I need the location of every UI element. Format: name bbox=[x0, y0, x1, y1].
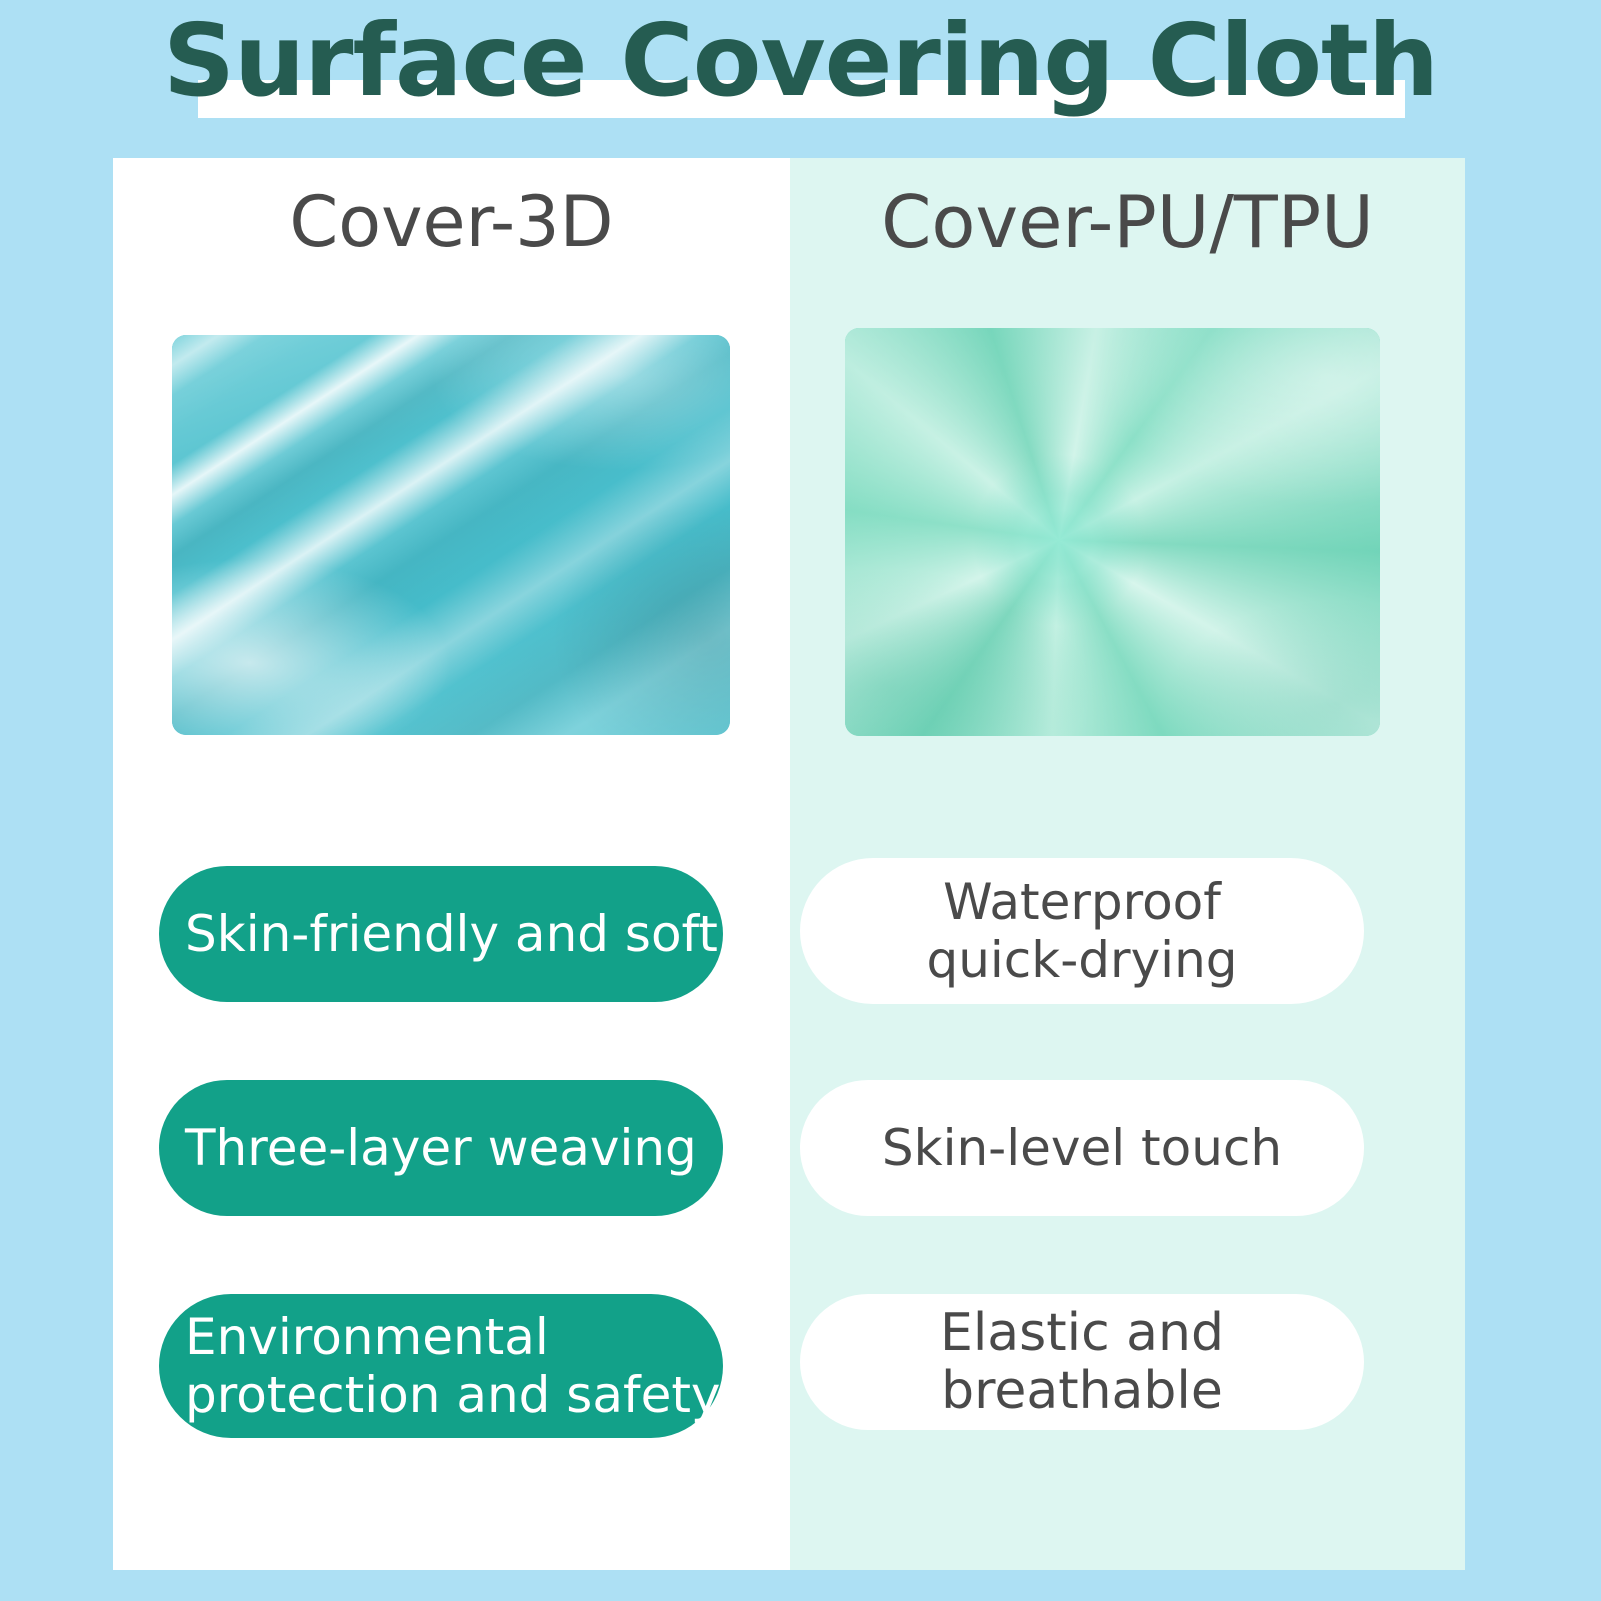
feature-pill[interactable]: Waterproof quick-drying bbox=[800, 858, 1364, 1004]
column-header-cover-pu-tpu: Cover-PU/TPU bbox=[790, 180, 1465, 264]
page-title: Surface Covering Cloth bbox=[0, 2, 1601, 120]
twist-shade-layer bbox=[845, 328, 1380, 736]
satin-glow-layer bbox=[172, 335, 730, 735]
column-cover-pu-tpu: Cover-PU/TPU Waterproof quick-drying Ski… bbox=[790, 158, 1465, 1570]
feature-pill[interactable]: Skin-friendly and soft bbox=[159, 866, 723, 1002]
satin-fabric-swatch bbox=[172, 335, 730, 735]
feature-pill-label: Elastic and breathable bbox=[800, 1304, 1364, 1420]
twisted-fabric-swatch bbox=[845, 328, 1380, 736]
comparison-card: Cover-3D Skin-friendly and soft Three-la… bbox=[113, 158, 1465, 1570]
feature-pill[interactable]: Environmental protection and safety bbox=[159, 1294, 723, 1438]
feature-pill-label: Waterproof quick-drying bbox=[926, 873, 1237, 989]
feature-pill-label: Environmental protection and safety bbox=[185, 1308, 721, 1424]
feature-pill[interactable]: Three-layer weaving bbox=[159, 1080, 723, 1216]
feature-pill-label: Skin-level touch bbox=[882, 1119, 1282, 1177]
feature-pill[interactable]: Elastic and breathable bbox=[800, 1294, 1364, 1430]
column-header-cover-3d: Cover-3D bbox=[113, 180, 790, 264]
feature-pill-label: Skin-friendly and soft bbox=[185, 905, 718, 963]
feature-pill[interactable]: Skin-level touch bbox=[800, 1080, 1364, 1216]
column-cover-3d: Cover-3D Skin-friendly and soft Three-la… bbox=[113, 158, 790, 1570]
title-area: Surface Covering Cloth bbox=[0, 0, 1601, 158]
feature-pill-label: Three-layer weaving bbox=[185, 1119, 697, 1177]
